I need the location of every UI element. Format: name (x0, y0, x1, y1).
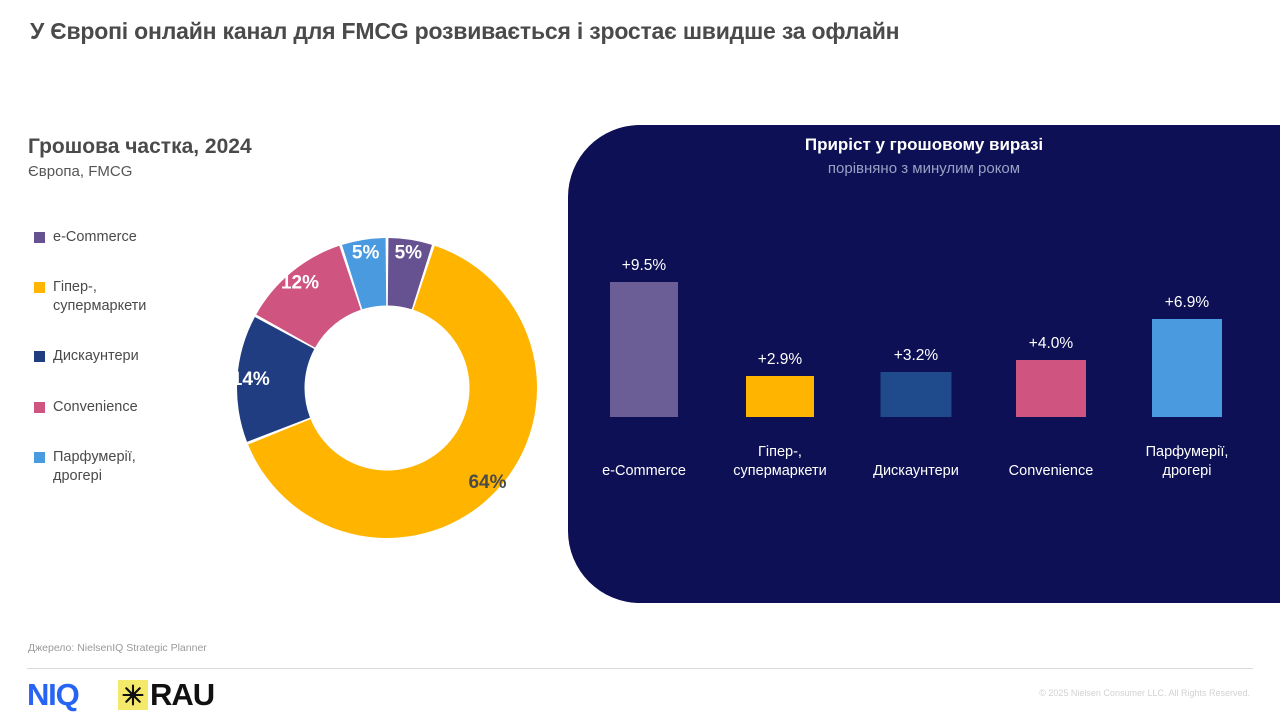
bar-value-label: +2.9% (714, 351, 846, 369)
bar-rect (746, 376, 814, 417)
donut-heading: Грошова частка, 2024 (28, 135, 252, 159)
legend-item: e-Commerce (34, 228, 224, 247)
bar-rect (881, 372, 952, 417)
bar-group: +3.2%Дискаунтери (850, 125, 982, 603)
bar-rect (1016, 360, 1086, 417)
donut-subheading: Європа, FMCG (28, 163, 132, 180)
donut-slice-label: 64% (468, 472, 506, 493)
legend-item: Дискаунтери (34, 347, 224, 366)
bar-value-label: +3.2% (850, 347, 982, 365)
donut-chart: 5%64%14%12%5% (236, 237, 538, 539)
source-note: Джерело: NielsenIQ Strategic Planner (28, 642, 207, 654)
niq-logo: NIQ (27, 679, 79, 710)
bar-category-label: Convenience (981, 462, 1121, 481)
footer-divider (27, 668, 1253, 669)
bar-group: +6.9%Парфумерії, дрогері (1121, 125, 1253, 603)
legend-swatch-icon (34, 452, 45, 463)
legend-item: Convenience (34, 398, 224, 417)
bar-category-label: Гіпер-, супермаркети (710, 443, 850, 481)
legend-item-label: Convenience (53, 398, 138, 417)
star-burst-icon (122, 684, 144, 706)
copyright-notice: © 2025 Nielsen Consumer LLC. All Rights … (1039, 688, 1250, 698)
bar-category-label: e-Commerce (574, 462, 714, 481)
legend-swatch-icon (34, 402, 45, 413)
donut-slice-label: 14% (236, 369, 270, 390)
donut-svg: 5%64%14%12%5% (236, 237, 538, 539)
donut-slice-label: 5% (352, 243, 380, 264)
legend-item: Парфумерії, дрогері (34, 448, 224, 486)
legend-swatch-icon (34, 351, 45, 362)
legend-item: Гіпер-, супермаркети (34, 278, 224, 316)
bar-group: +4.0%Convenience (985, 125, 1117, 603)
legend-item-label: Гіпер-, супермаркети (53, 278, 146, 316)
bar-value-label: +6.9% (1121, 294, 1253, 312)
legend-swatch-icon (34, 282, 45, 293)
rau-wordmark: RAU (150, 679, 214, 710)
bar-category-label: Парфумерії, дрогері (1117, 443, 1257, 481)
bar-rect (610, 282, 678, 417)
bar-group: +9.5%e-Commerce (578, 125, 710, 603)
bar-group: +2.9%Гіпер-, супермаркети (714, 125, 846, 603)
legend-item-label: Дискаунтери (53, 347, 139, 366)
rau-logo: RAU (118, 679, 214, 710)
bar-value-label: +4.0% (985, 335, 1117, 353)
bar-value-label: +9.5% (578, 257, 710, 275)
growth-bar-chart: +9.5%e-Commerce+2.9%Гіпер-, супермаркети… (568, 125, 1280, 603)
legend-swatch-icon (34, 232, 45, 243)
bar-category-label: Дискаунтери (846, 462, 986, 481)
page-title: У Європі онлайн канал для FMCG розвиваєт… (30, 18, 1130, 45)
donut-slice-label: 12% (281, 272, 319, 293)
legend-item-label: Парфумерії, дрогері (53, 448, 136, 486)
bar-rect (1152, 319, 1222, 417)
donut-slice-label: 5% (395, 243, 423, 264)
donut-legend: e-CommerceГіпер-, супермаркетиДискаунтер… (34, 228, 224, 517)
legend-item-label: e-Commerce (53, 228, 137, 247)
rau-star-icon (118, 680, 148, 710)
